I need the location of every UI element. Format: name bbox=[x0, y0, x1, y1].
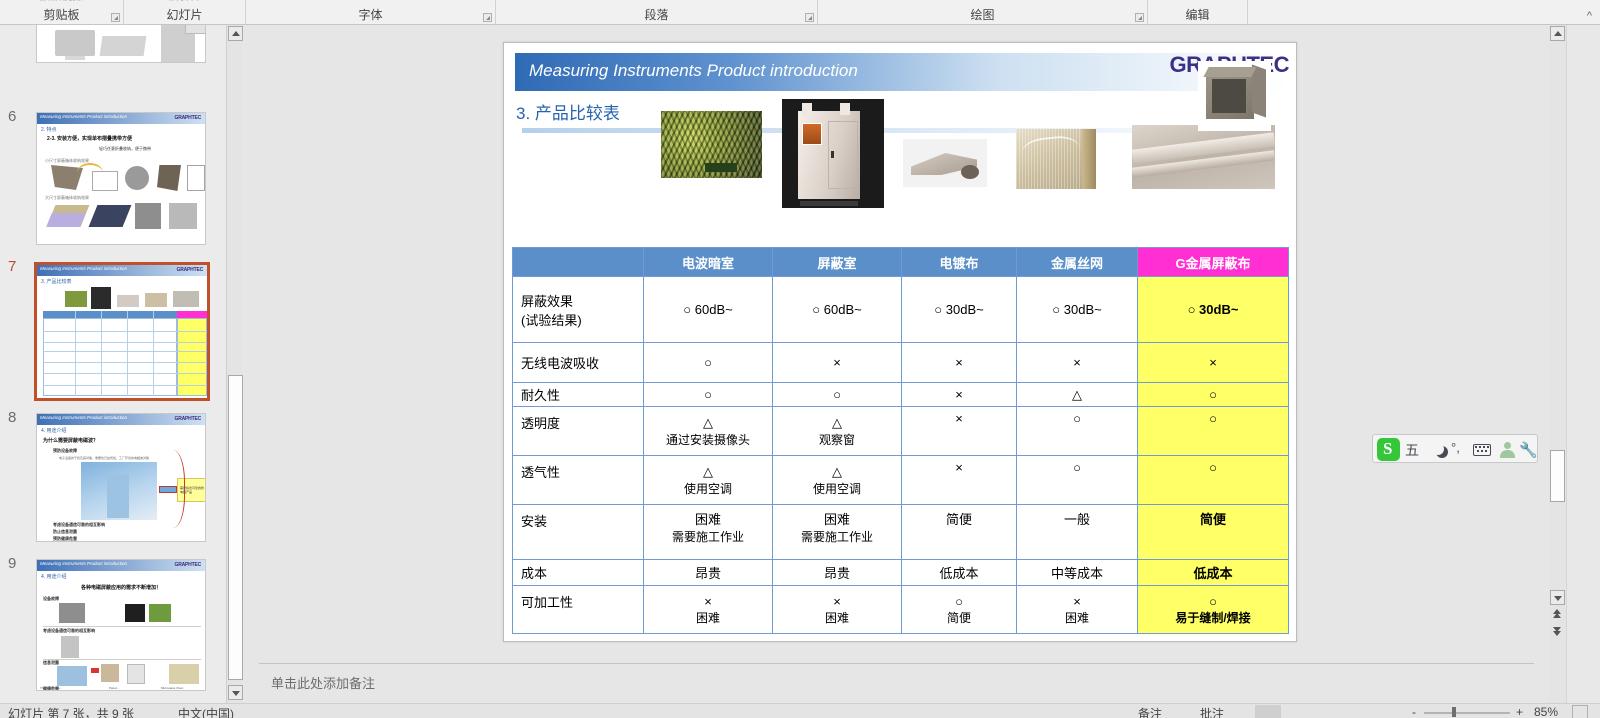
label: 安装 bbox=[521, 514, 547, 529]
thumb6-note: 轻巧任意折叠收纳，便于携带 bbox=[99, 146, 151, 152]
slide-panel-scrollbar[interactable] bbox=[226, 25, 243, 703]
text: 困难 bbox=[645, 609, 771, 626]
slide-thumbnail-8[interactable]: Measuring Instruments Product introducti… bbox=[36, 413, 206, 542]
mark: △ bbox=[832, 415, 842, 430]
mark: × bbox=[955, 411, 963, 426]
label: 透气性 bbox=[521, 465, 560, 480]
slide-thumbnail-7[interactable]: Measuring Instruments Product introducti… bbox=[34, 262, 210, 401]
mark: ○ bbox=[683, 302, 691, 317]
text2: 需要施工作业 bbox=[645, 528, 771, 545]
thumb7-col-line-1 bbox=[75, 311, 76, 396]
thumb6-header-title: Measuring Instruments Product introducti… bbox=[40, 114, 127, 119]
mark: △ bbox=[832, 464, 842, 479]
text: 30dB~ bbox=[1064, 302, 1102, 317]
thumb7-row-line-2 bbox=[43, 342, 207, 343]
slide-panel-scroll-thumb[interactable] bbox=[228, 375, 243, 680]
thumb9-footer-3: Microwave Oven bbox=[161, 686, 183, 690]
mark: ○ bbox=[1209, 411, 1217, 426]
mark: × bbox=[833, 594, 841, 609]
cell-r6-c2[interactable]: 昂贵 bbox=[773, 560, 902, 586]
mark: ○ bbox=[812, 302, 820, 317]
text: 简便 bbox=[946, 512, 972, 527]
label: 透明度 bbox=[521, 416, 560, 431]
slide-panel-scroll-up-button[interactable] bbox=[228, 26, 243, 41]
thumb6-caption-2: 大尺寸屏蔽箱体收纳效果 bbox=[45, 195, 89, 201]
cell-r7-c3[interactable]: ○简便 bbox=[902, 586, 1017, 634]
thumb9-divider-1 bbox=[43, 626, 201, 627]
zoom-slider-track[interactable] bbox=[1424, 712, 1510, 714]
text2: 需要施工作业 bbox=[774, 528, 900, 545]
row-label-breathability: 透气性 bbox=[513, 456, 644, 505]
thumb9-subheading: 各种电磁屏蔽应用的需求不断增加！ bbox=[81, 584, 161, 591]
thumb8-diagram-building bbox=[107, 474, 129, 518]
cell-r0-c4[interactable]: ○ 30dB~ bbox=[1017, 277, 1138, 343]
thumb7-table-header bbox=[43, 311, 177, 318]
table-header-blank bbox=[513, 248, 644, 277]
slide-position-indicator[interactable]: 幻灯片 第 7 张，共 9 张 bbox=[8, 705, 134, 718]
thumb7-col-line-4 bbox=[153, 311, 154, 396]
row-label-workability: 可加工性 bbox=[513, 586, 644, 634]
table-row[interactable]: 透明度 △通过安装摄像头 △观察窗 × ○ ○ bbox=[513, 407, 1289, 456]
ribbon-group-clipboard-ghost: 粘贴选项 bbox=[0, 0, 123, 1]
thumb6-img-5 bbox=[187, 165, 205, 191]
cell-r0-c3[interactable]: ○ 30dB~ bbox=[902, 277, 1017, 343]
thumb7-heading: 3. 产品比较表 bbox=[41, 278, 72, 285]
view-normal-button[interactable] bbox=[1255, 705, 1281, 718]
ribbon-group-slides-label: 幻灯片 bbox=[124, 6, 245, 23]
table-row[interactable]: 屏蔽效果 (试验结果) ○ 60dB~ ○ 60dB~ ○ 30dB~ ○ 30… bbox=[513, 277, 1289, 343]
row-label-transparency: 透明度 bbox=[513, 407, 644, 456]
thumb7-col-line-2 bbox=[101, 311, 102, 396]
cell-r2-c1[interactable]: ○ bbox=[644, 383, 773, 407]
slide-number-8: 8 bbox=[8, 409, 16, 426]
shield-tent-photo[interactable] bbox=[1198, 61, 1271, 131]
thumb9-footer-2: Panel... bbox=[109, 686, 119, 690]
table-header-row: 电波暗室 屏蔽室 电镀布 金属丝网 G金属屏蔽布 bbox=[513, 248, 1289, 277]
ime-settings-wrench-icon[interactable]: 🔧 bbox=[1519, 441, 1538, 459]
thumb9-header-title: Measuring Instruments Product introducti… bbox=[40, 561, 127, 566]
view-reading-button[interactable] bbox=[1325, 705, 1351, 718]
cell-r6-c4[interactable]: 中等成本 bbox=[1017, 560, 1138, 586]
cell-r1-c1[interactable]: ○ bbox=[644, 343, 773, 383]
table-header-metalmesh: 金属丝网 bbox=[1017, 248, 1138, 277]
thumb9-img-8 bbox=[127, 664, 145, 684]
thumb9-logo: GRAPHTEC bbox=[175, 562, 201, 568]
ribbon-group-editing-label: 编辑 bbox=[1148, 6, 1247, 23]
thumb6-logo: GRAPHTEC bbox=[175, 115, 201, 121]
table-row[interactable]: 可加工性 ×困难 ×困难 ○简便 ×困难 ○易于缝制/焊接 bbox=[513, 586, 1289, 634]
previous-slide-button[interactable] bbox=[1549, 608, 1566, 620]
thumb6-img-10 bbox=[169, 203, 197, 229]
cell-r1-c5[interactable]: × bbox=[1138, 343, 1289, 383]
row-label-shielding-effect: 屏蔽效果 (试验结果) bbox=[513, 277, 644, 343]
cell-r4-c4[interactable]: ○ bbox=[1017, 456, 1138, 505]
ime-input-mode[interactable]: 五 bbox=[1405, 440, 1419, 460]
cell-r4-c1[interactable]: △使用空调 bbox=[644, 456, 773, 505]
cell-r6-c3[interactable]: 低成本 bbox=[902, 560, 1017, 586]
slide-thumbnail-panel[interactable]: 6 Measuring Instruments Product introduc… bbox=[0, 25, 226, 703]
cell-r1-c2[interactable]: × bbox=[773, 343, 902, 383]
clipboard-dialog-launcher-icon[interactable] bbox=[111, 13, 120, 22]
comments-button[interactable]: 批注 bbox=[1200, 705, 1224, 718]
shield-room-photo[interactable] bbox=[782, 99, 884, 208]
cell-r0-c5[interactable]: ○ 30dB~ bbox=[1138, 277, 1289, 343]
text: 60dB~ bbox=[824, 302, 862, 317]
thumb8-bullet-3: 防止信息泄露 bbox=[53, 529, 77, 535]
cell-r3-c2[interactable]: △观察窗 bbox=[773, 407, 902, 456]
mark: ○ bbox=[1188, 302, 1196, 317]
thumb8-heading: 4. 用途介绍 bbox=[41, 427, 67, 434]
cell-r3-c3[interactable]: × bbox=[902, 407, 1017, 456]
mark: × bbox=[1073, 594, 1081, 609]
cell-r6-c5[interactable]: 低成本 bbox=[1138, 560, 1289, 586]
table-header-shieldroom: 屏蔽室 bbox=[773, 248, 902, 277]
product-comparison-table[interactable]: 电波暗室 屏蔽室 电镀布 金属丝网 G金属屏蔽布 屏蔽效果 (试验结果) ○ 6… bbox=[512, 247, 1289, 634]
cell-r5-c2[interactable]: 困难需要施工作业 bbox=[773, 505, 902, 560]
thumb8-header-title: Measuring Instruments Product introducti… bbox=[40, 415, 127, 420]
text: 通过安装摄像头 bbox=[645, 431, 771, 448]
thumb9-img-4 bbox=[61, 636, 79, 658]
thumb7-table-header-highlight bbox=[177, 311, 207, 318]
mark: ○ bbox=[1209, 594, 1217, 609]
cell-r2-c3[interactable]: × bbox=[902, 383, 1017, 407]
thumb7-img-5 bbox=[173, 291, 199, 307]
table-header-anechoic: 电波暗室 bbox=[644, 248, 773, 277]
slide-subtitle: 3. 产品比较表 bbox=[516, 99, 620, 124]
mark: ○ bbox=[934, 302, 942, 317]
main-scroll-up-button[interactable] bbox=[1550, 26, 1565, 41]
text: 30dB~ bbox=[946, 302, 984, 317]
text: 60dB~ bbox=[695, 302, 733, 317]
mark: × bbox=[955, 460, 963, 475]
powerpoint-window: 粘贴选项 剪贴板 幻灯片 幻灯片 字体 段落 绘图 编辑 ^ bbox=[0, 0, 1600, 718]
cell-r2-c4[interactable]: △ bbox=[1017, 383, 1138, 407]
collapse-ribbon-icon[interactable]: ^ bbox=[1587, 10, 1592, 22]
text: 易于缝制/焊接 bbox=[1139, 609, 1287, 626]
thumb6-heading: 2. 特点 bbox=[41, 126, 57, 133]
thumb8-bullet-detail: 电子设备的干扰及其对策，重要性日益增加，工厂环境的电磁波对策 bbox=[59, 456, 149, 460]
mark: △ bbox=[703, 415, 713, 430]
ribbon-group-font[interactable]: 字体 bbox=[246, 0, 496, 25]
g-metal-shield-fabric-photo[interactable] bbox=[1132, 125, 1275, 189]
text: 使用空调 bbox=[774, 480, 900, 497]
zoom-in-button[interactable]: + bbox=[1516, 705, 1523, 718]
mark: △ bbox=[703, 464, 713, 479]
ribbon-group-drawing-label: 绘图 bbox=[818, 6, 1147, 23]
keyboard-icon[interactable] bbox=[1473, 444, 1491, 456]
row-label-main: 屏蔽效果 bbox=[521, 294, 573, 309]
table-row[interactable]: 透气性 △使用空调 △使用空调 × ○ ○ bbox=[513, 456, 1289, 505]
cell-r4-c3[interactable]: × bbox=[902, 456, 1017, 505]
mark: × bbox=[704, 594, 712, 609]
slide-panel-scroll-down-button[interactable] bbox=[228, 685, 243, 700]
notes-inner[interactable]: 单击此处添加备注 bbox=[259, 663, 1534, 698]
table-header-platedfabric: 电镀布 bbox=[902, 248, 1017, 277]
paragraph-dialog-launcher-icon[interactable] bbox=[805, 13, 814, 22]
cell-r0-c2[interactable]: ○ 60dB~ bbox=[773, 277, 902, 343]
notes-button[interactable]: 备注 bbox=[1138, 705, 1162, 718]
right-task-pane bbox=[1566, 25, 1600, 703]
mark: ○ bbox=[1052, 302, 1060, 317]
thumb7-row-line-4 bbox=[43, 362, 207, 363]
thumb6-img-3 bbox=[125, 166, 149, 190]
ribbon-group-paragraph-label: 段落 bbox=[496, 6, 817, 23]
thumb7-img-4 bbox=[145, 293, 167, 307]
ribbon-group-slides[interactable]: 幻灯片 幻灯片 bbox=[124, 0, 246, 25]
thumb9-img-3 bbox=[149, 604, 171, 622]
zoom-level-label[interactable]: 85% bbox=[1534, 705, 1558, 718]
cell-r0-c1[interactable]: ○ 60dB~ bbox=[644, 277, 773, 343]
thumb6-img-2 bbox=[92, 171, 118, 191]
punctuation-toggle[interactable]: °, bbox=[1451, 440, 1460, 455]
text: 困难 bbox=[1018, 609, 1136, 626]
cell-r7-c4[interactable]: ×困难 bbox=[1017, 586, 1138, 634]
thumb7-row-line-5 bbox=[43, 373, 207, 374]
language-indicator[interactable]: 中文(中国) bbox=[178, 705, 234, 718]
row-label-sub: (试验结果) bbox=[521, 313, 582, 328]
slide-thumbnail-6[interactable]: Measuring Instruments Product introducti… bbox=[36, 112, 206, 245]
text: 简便 bbox=[1200, 512, 1226, 527]
mark: ○ bbox=[1209, 460, 1217, 475]
thumb6-img-4 bbox=[157, 165, 181, 191]
thumb7-row-line-1 bbox=[43, 331, 207, 332]
text: 困难 bbox=[774, 609, 900, 626]
cell-r5-c4[interactable]: 一般 bbox=[1017, 505, 1138, 560]
table-body: 屏蔽效果 (试验结果) ○ 60dB~ ○ 60dB~ ○ 30dB~ ○ 30… bbox=[513, 277, 1289, 634]
sogou-ime-toolbar[interactable]: 五 °, 🔧 bbox=[1372, 434, 1538, 463]
table-row[interactable]: 耐久性 ○ ○ × △ ○ bbox=[513, 383, 1289, 407]
status-bar: 幻灯片 第 7 张，共 9 张 中文(中国) 备注 批注 - + 85% bbox=[0, 703, 1600, 718]
thumb6-img-8 bbox=[89, 205, 132, 227]
thumb6-caption-1: 小尺寸屏蔽箱体收纳效果 bbox=[45, 158, 89, 164]
table-row[interactable]: 成本 昂贵 昂贵 低成本 中等成本 低成本 bbox=[513, 560, 1289, 586]
notes-pane[interactable]: 单击此处添加备注 bbox=[244, 658, 1549, 703]
ribbon-group-slides-ghost: 幻灯片 bbox=[124, 0, 245, 1]
thumb9-img-1 bbox=[59, 603, 85, 623]
thumb7-img-2 bbox=[91, 287, 111, 309]
cell-r2-c2[interactable]: ○ bbox=[773, 383, 902, 407]
person-icon[interactable] bbox=[1500, 442, 1515, 458]
thumb7-img-1 bbox=[65, 291, 87, 307]
zoom-out-button[interactable]: - bbox=[1412, 705, 1416, 718]
cell-r5-c3[interactable]: 简便 bbox=[902, 505, 1017, 560]
slide-number-7: 7 bbox=[8, 258, 16, 275]
thumb7-row-line-6 bbox=[43, 385, 207, 386]
cell-r5-c5[interactable]: 简便 bbox=[1138, 505, 1289, 560]
thumb9-divider-2 bbox=[43, 659, 201, 660]
main-scroll-thumb[interactable] bbox=[1550, 450, 1565, 502]
current-slide[interactable]: Measuring Instruments Product introducti… bbox=[503, 42, 1297, 642]
thumb9-img-9 bbox=[169, 664, 199, 684]
thumb8-red-curve bbox=[155, 450, 185, 528]
thumb9-img-7 bbox=[101, 664, 119, 682]
view-slide-sorter-button[interactable] bbox=[1290, 705, 1316, 718]
cell-r7-c5[interactable]: ○易于缝制/焊接 bbox=[1138, 586, 1289, 634]
ribbon-bar: 粘贴选项 剪贴板 幻灯片 幻灯片 字体 段落 绘图 编辑 ^ bbox=[0, 0, 1600, 25]
slide-header-title: Measuring Instruments Product introducti… bbox=[529, 61, 858, 81]
cell-r1-c3[interactable]: × bbox=[902, 343, 1017, 383]
slide-thumbnail-9[interactable]: Measuring Instruments Product introducti… bbox=[36, 559, 206, 691]
anechoic-chamber-photo[interactable] bbox=[661, 111, 762, 178]
thumb8-logo: GRAPHTEC bbox=[175, 416, 201, 422]
main-scroll-down-button[interactable] bbox=[1550, 590, 1565, 605]
cell-r4-c2[interactable]: △使用空调 bbox=[773, 456, 902, 505]
font-dialog-launcher-icon[interactable] bbox=[483, 13, 492, 22]
thumb8-bullet-4: 预防健康危害 bbox=[53, 536, 77, 542]
fit-slide-to-window-button[interactable] bbox=[1572, 705, 1588, 718]
thumb8-bullet-2: 考虑设备通信可靠的相互影响 bbox=[53, 522, 105, 528]
text: 困难 bbox=[824, 512, 850, 527]
metal-mesh-photo[interactable] bbox=[1016, 129, 1096, 189]
notes-placeholder[interactable]: 单击此处添加备注 bbox=[271, 673, 375, 692]
text: 困难 bbox=[695, 512, 721, 527]
row-label-installation: 安装 bbox=[513, 505, 644, 560]
ribbon-group-editing[interactable]: 编辑 bbox=[1148, 0, 1248, 25]
cell-r5-c1[interactable]: 困难需要施工作业 bbox=[644, 505, 773, 560]
thumb9-img-6 bbox=[91, 668, 99, 673]
row-label-durability: 耐久性 bbox=[513, 383, 644, 407]
thumb8-bullet-1: 预防设备故障 bbox=[53, 448, 77, 454]
drawing-dialog-launcher-icon[interactable] bbox=[1135, 13, 1144, 22]
main-vertical-scrollbar[interactable] bbox=[1549, 25, 1566, 703]
plated-fabric-photo[interactable] bbox=[903, 139, 987, 187]
row-label-cost: 成本 bbox=[513, 560, 644, 586]
moon-icon[interactable] bbox=[1432, 443, 1444, 455]
thumb9-heading: 4. 用途介绍 bbox=[41, 573, 67, 580]
ribbon-group-paragraph[interactable]: 段落 bbox=[496, 0, 818, 25]
table-header-gmetal: G金属屏蔽布 bbox=[1138, 248, 1289, 277]
next-slide-button[interactable] bbox=[1549, 626, 1566, 638]
cell-r7-c2[interactable]: ×困难 bbox=[773, 586, 902, 634]
thumb6-img-9 bbox=[135, 203, 161, 229]
cell-r3-c1[interactable]: △通过安装摄像头 bbox=[644, 407, 773, 456]
mark: ○ bbox=[955, 594, 963, 609]
cell-r6-c1[interactable]: 昂贵 bbox=[644, 560, 773, 586]
cell-r2-c5[interactable]: ○ bbox=[1138, 383, 1289, 407]
thumb9-section-2: 考虑设备通信可靠的相互影响 bbox=[43, 628, 95, 634]
slide-number-9: 9 bbox=[8, 555, 16, 572]
row-label-radiowave-absorption: 无线电波吸收 bbox=[513, 343, 644, 383]
ribbon-group-clipboard-label: 剪贴板 bbox=[0, 6, 123, 23]
ribbon-group-drawing[interactable]: 绘图 bbox=[818, 0, 1148, 25]
cell-r3-c5[interactable]: ○ bbox=[1138, 407, 1289, 456]
thumb7-header-title: Measuring Instruments Product introducti… bbox=[40, 266, 127, 271]
thumb9-img-2 bbox=[125, 604, 145, 622]
table-row[interactable]: 安装 困难需要施工作业 困难需要施工作业 简便 一般 简便 bbox=[513, 505, 1289, 560]
ribbon-group-clipboard[interactable]: 粘贴选项 剪贴板 bbox=[0, 0, 124, 25]
zoom-slider-knob[interactable] bbox=[1452, 707, 1456, 717]
thumb6-subheading: 2-3. 安装方便，实现单布摺叠携带方便 bbox=[47, 135, 132, 142]
thumb9-section-1: 设备故障 bbox=[43, 596, 59, 602]
sogou-logo-icon[interactable] bbox=[1377, 438, 1400, 461]
ribbon-group-font-label: 字体 bbox=[246, 6, 495, 23]
text: 观察窗 bbox=[774, 431, 900, 448]
text: 一般 bbox=[1064, 512, 1090, 527]
slide-number-6: 6 bbox=[8, 108, 16, 125]
thumb7-img-3 bbox=[117, 295, 139, 307]
thumb9-footer-1: Thermal Press... bbox=[40, 686, 62, 690]
mark: ○ bbox=[1073, 460, 1081, 475]
thumb6-img-7 bbox=[46, 213, 86, 227]
table-row[interactable]: 无线电波吸收 ○ × × × × bbox=[513, 343, 1289, 383]
thumb7-row-line-3 bbox=[43, 351, 207, 352]
cell-r3-c4[interactable]: ○ bbox=[1017, 407, 1138, 456]
slide-thumbnail-5[interactable] bbox=[36, 25, 206, 63]
view-slideshow-button[interactable] bbox=[1360, 705, 1386, 718]
mark: ○ bbox=[1073, 411, 1081, 426]
thumb9-img-5 bbox=[57, 666, 87, 686]
text: 使用空调 bbox=[645, 480, 771, 497]
text: 30dB~ bbox=[1199, 302, 1238, 317]
label: 可加工性 bbox=[521, 595, 573, 610]
thumb8-subheading: 为什么需要屏蔽电磁波？ bbox=[43, 437, 98, 444]
cell-r4-c5[interactable]: ○ bbox=[1138, 456, 1289, 505]
thumb7-col-line-3 bbox=[127, 311, 128, 396]
slide-edit-area[interactable]: Measuring Instruments Product introducti… bbox=[244, 25, 1549, 658]
cell-r7-c1[interactable]: ×困难 bbox=[644, 586, 773, 634]
thumb7-logo: GRAPHTEC bbox=[177, 267, 203, 273]
cell-r1-c4[interactable]: × bbox=[1017, 343, 1138, 383]
text: 简便 bbox=[903, 609, 1015, 626]
